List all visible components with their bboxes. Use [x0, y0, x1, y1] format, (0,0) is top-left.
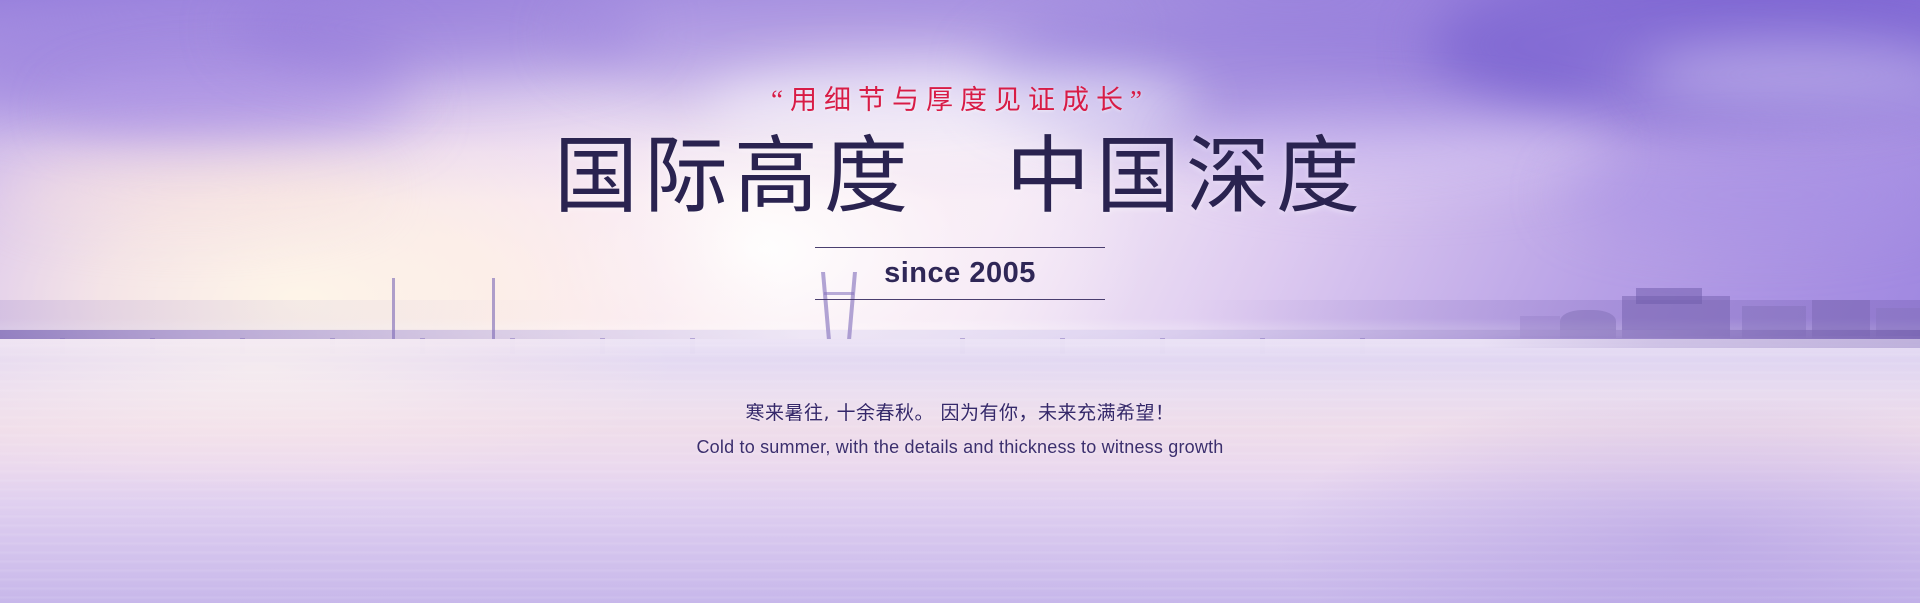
banner-tagline: “用细节与厚度见证成长”	[771, 78, 1149, 117]
hero-banner: “用细节与厚度见证成长” 国际高度 中国深度 since 2005 寒来暑往, …	[0, 0, 1920, 603]
since-block: since 2005	[815, 247, 1105, 300]
since-year-label: since 2005	[884, 257, 1036, 290]
chinese-subtitle: 寒来暑往, 十余春秋。 因为有你，未来充满希望！	[745, 398, 1174, 425]
banner-headline: 国际高度 中国深度	[554, 131, 1366, 225]
headline-right-phrase: 中国深度	[1006, 131, 1366, 224]
divider-bottom	[815, 299, 1105, 300]
english-subtitle: Cold to summer, with the details and thi…	[696, 437, 1223, 458]
headline-left-phrase: 国际高度	[554, 131, 914, 224]
divider-top	[815, 247, 1105, 248]
banner-content: “用细节与厚度见证成长” 国际高度 中国深度 since 2005	[0, 0, 1920, 603]
banner-footer-text: 寒来暑往, 十余春秋。 因为有你，未来充满希望！ Cold to summer,…	[0, 398, 1920, 458]
